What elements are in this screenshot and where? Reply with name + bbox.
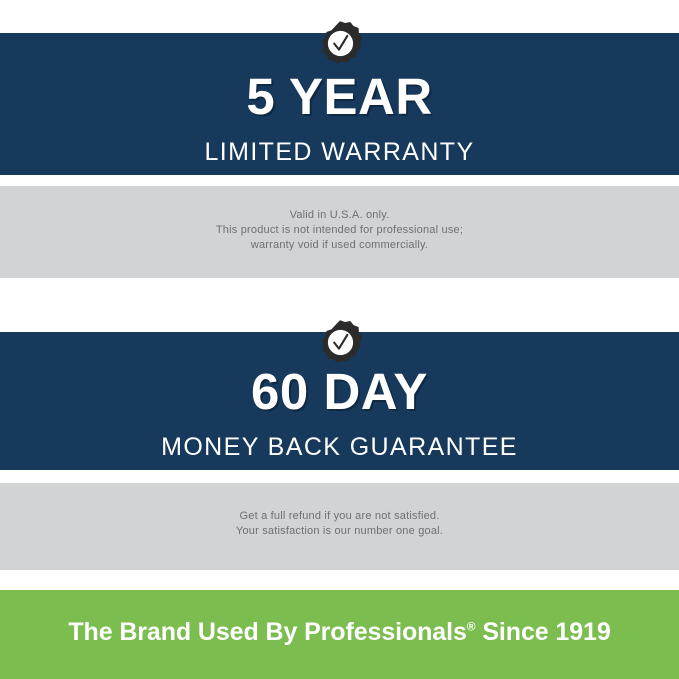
warranty-guarantee-infographic: 5 YEAR LIMITED WARRANTY Valid in U.S.A. … [0,0,679,679]
guarantee-terms-line: Get a full refund if you are not satisfi… [0,509,679,524]
guarantee-terms-list: Get a full refund if you are not satisfi… [0,483,679,539]
warranty-terms-line: warranty void if used commercially. [0,238,679,253]
brand-tagline-main: The Brand Used By Professionals [68,618,466,646]
warranty-terms-line: Valid in U.S.A. only. [0,208,679,223]
brand-tagline: The Brand Used By Professionals® Since 1… [0,590,679,645]
guarantee-subhead: MONEY BACK GUARANTEE [0,417,679,460]
brand-tagline-banner: The Brand Used By Professionals® Since 1… [0,590,679,679]
brand-tagline-year: Since 1919 [476,618,611,646]
registered-trademark-icon: ® [467,620,476,634]
warranty-terms-line: This product is not intended for profess… [0,223,679,238]
guarantee-terms-banner: Get a full refund if you are not satisfi… [0,483,679,570]
warranty-subhead: LIMITED WARRANTY [0,122,679,165]
guarantee-banner: 60 DAY MONEY BACK GUARANTEE [0,332,679,470]
guarantee-terms-line: Your satisfaction is our number one goal… [0,524,679,539]
warranty-headline: 5 YEAR [0,33,679,122]
guarantee-headline: 60 DAY [0,332,679,417]
warranty-terms-banner: Valid in U.S.A. only. This product is no… [0,186,679,278]
warranty-banner: 5 YEAR LIMITED WARRANTY [0,33,679,175]
warranty-terms-list: Valid in U.S.A. only. This product is no… [0,186,679,253]
